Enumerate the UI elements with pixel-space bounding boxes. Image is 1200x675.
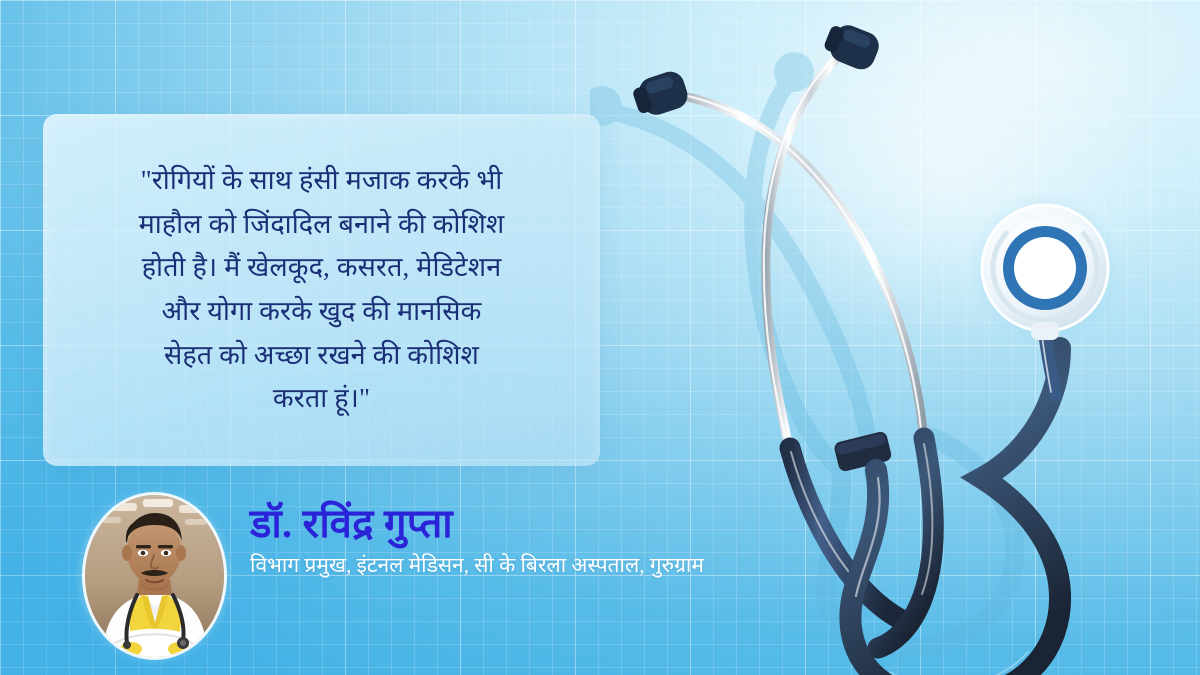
top-right-glow — [640, 0, 1200, 440]
doctor-portrait-image — [85, 495, 224, 657]
attribution-block: डॉ. रविंद्र गुप्ता विभाग प्रमुख, इंटनल म… — [74, 487, 704, 665]
doctor-role: विभाग प्रमुख, इंटनल मेडिसन, सी के बिरला … — [250, 551, 704, 580]
attribution-text: डॉ. रविंद्र गुप्ता विभाग प्रमुख, इंटनल म… — [250, 487, 704, 580]
poster-canvas: "रोगियों के साथ हंसी मजाक करके भी माहौल … — [0, 0, 1200, 675]
avatar — [74, 487, 234, 665]
quote-card: "रोगियों के साथ हंसी मजाक करके भी माहौल … — [43, 114, 600, 466]
quote-text: "रोगियों के साथ हंसी मजाक करके भी माहौल … — [113, 159, 531, 421]
doctor-name: डॉ. रविंद्र गुप्ता — [250, 503, 704, 545]
